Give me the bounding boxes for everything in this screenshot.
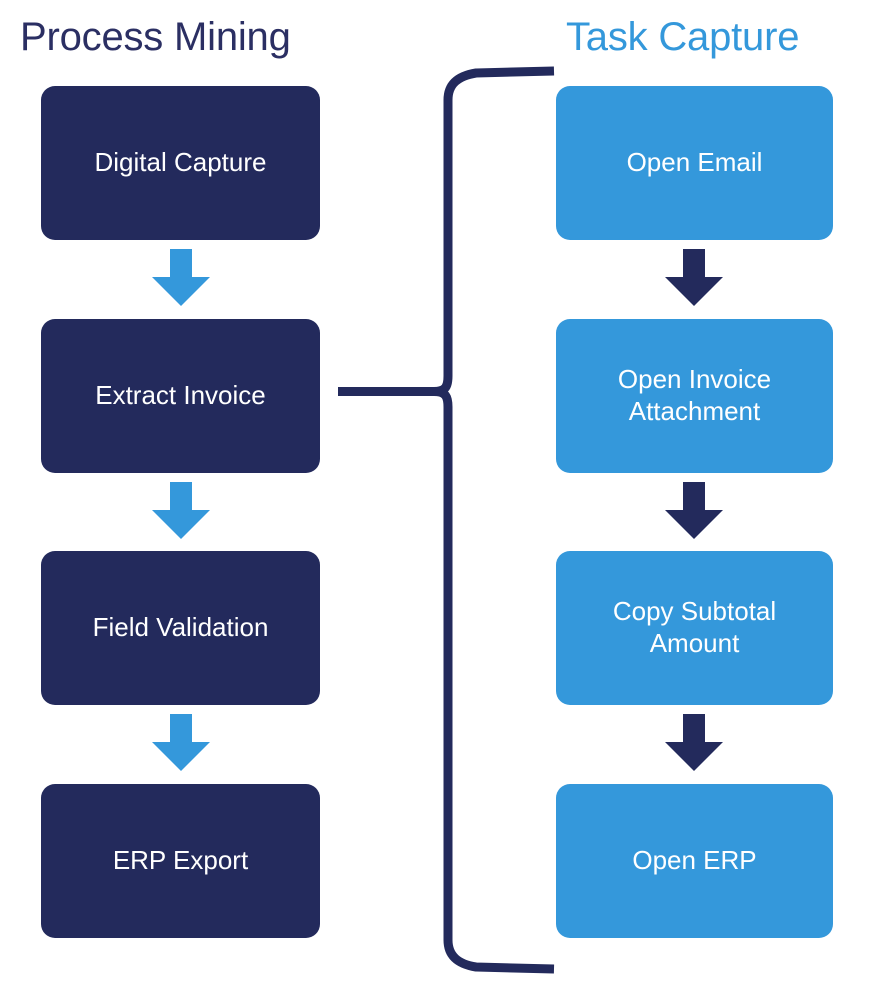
curly-brace-connector bbox=[330, 60, 570, 980]
node-open-email[interactable]: Open Email bbox=[556, 86, 833, 240]
column-title-process-mining: Process Mining bbox=[20, 17, 291, 57]
arrow-down-icon-left-1 bbox=[151, 249, 211, 307]
node-label: ERP Export bbox=[113, 845, 248, 877]
node-open-invoice-attachment[interactable]: Open Invoice Attachment bbox=[556, 319, 833, 473]
arrow-down-icon-right-1 bbox=[664, 249, 724, 307]
node-digital-capture[interactable]: Digital Capture bbox=[41, 86, 320, 240]
node-erp-export[interactable]: ERP Export bbox=[41, 784, 320, 938]
diagram-canvas: Process Mining Task Capture Digital Capt… bbox=[0, 0, 870, 996]
node-open-erp[interactable]: Open ERP bbox=[556, 784, 833, 938]
node-label: Open Email bbox=[627, 147, 763, 179]
node-label: Open Invoice Attachment bbox=[618, 364, 771, 427]
node-label: Open ERP bbox=[632, 845, 756, 877]
node-copy-subtotal-amount[interactable]: Copy Subtotal Amount bbox=[556, 551, 833, 705]
arrow-down-icon-left-2 bbox=[151, 482, 211, 540]
column-title-task-capture: Task Capture bbox=[566, 17, 799, 57]
node-label: Extract Invoice bbox=[95, 380, 266, 412]
arrow-down-icon-left-3 bbox=[151, 714, 211, 772]
arrow-down-icon-right-2 bbox=[664, 482, 724, 540]
node-field-validation[interactable]: Field Validation bbox=[41, 551, 320, 705]
node-label: Copy Subtotal Amount bbox=[613, 596, 776, 659]
node-label: Digital Capture bbox=[95, 147, 267, 179]
node-extract-invoice[interactable]: Extract Invoice bbox=[41, 319, 320, 473]
arrow-down-icon-right-3 bbox=[664, 714, 724, 772]
node-label: Field Validation bbox=[93, 612, 269, 644]
